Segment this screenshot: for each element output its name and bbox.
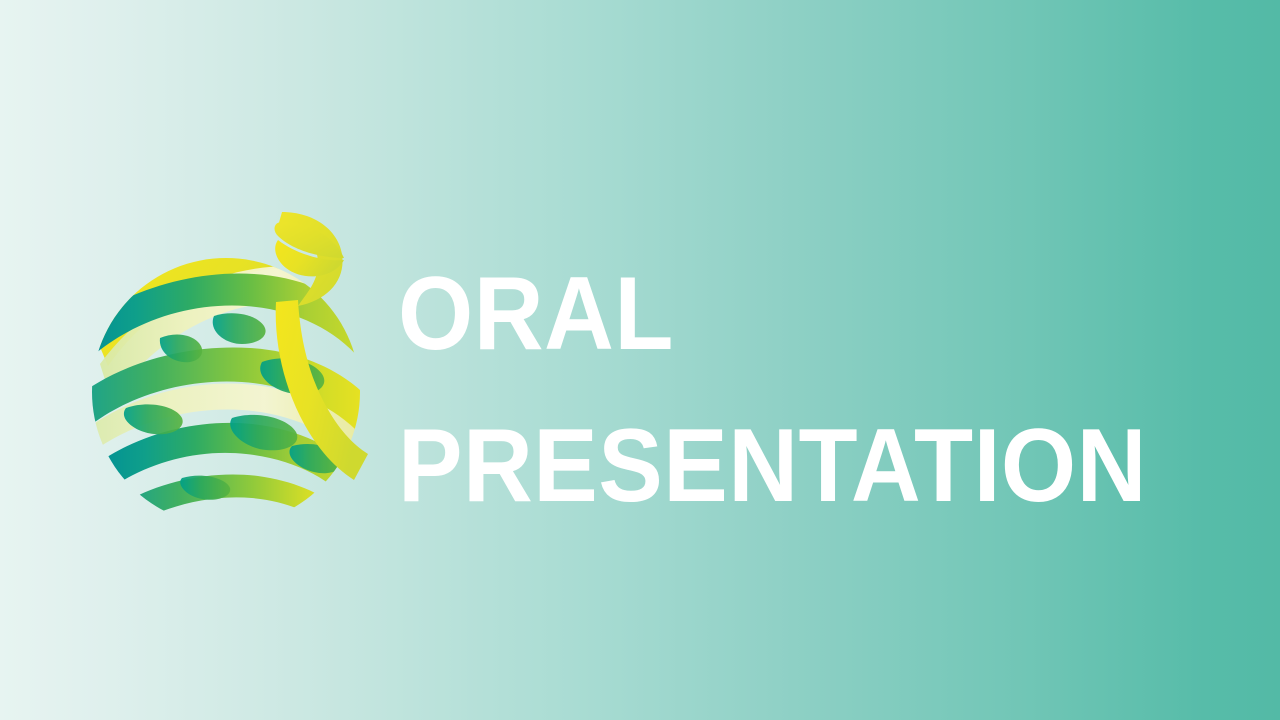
slide-canvas: ORAL PRESENTATION — [0, 0, 1280, 720]
globe-ribbon-bands — [86, 235, 386, 524]
title-line-2: PRESENTATION — [398, 390, 1179, 542]
title-line-1: ORAL — [398, 238, 1179, 390]
ribbon-band-5 — [122, 474, 354, 524]
globe-ribbon-leaf-logo — [86, 196, 386, 524]
title-block: ORAL PRESENTATION — [398, 238, 1238, 542]
globe-logo-svg — [86, 196, 386, 524]
